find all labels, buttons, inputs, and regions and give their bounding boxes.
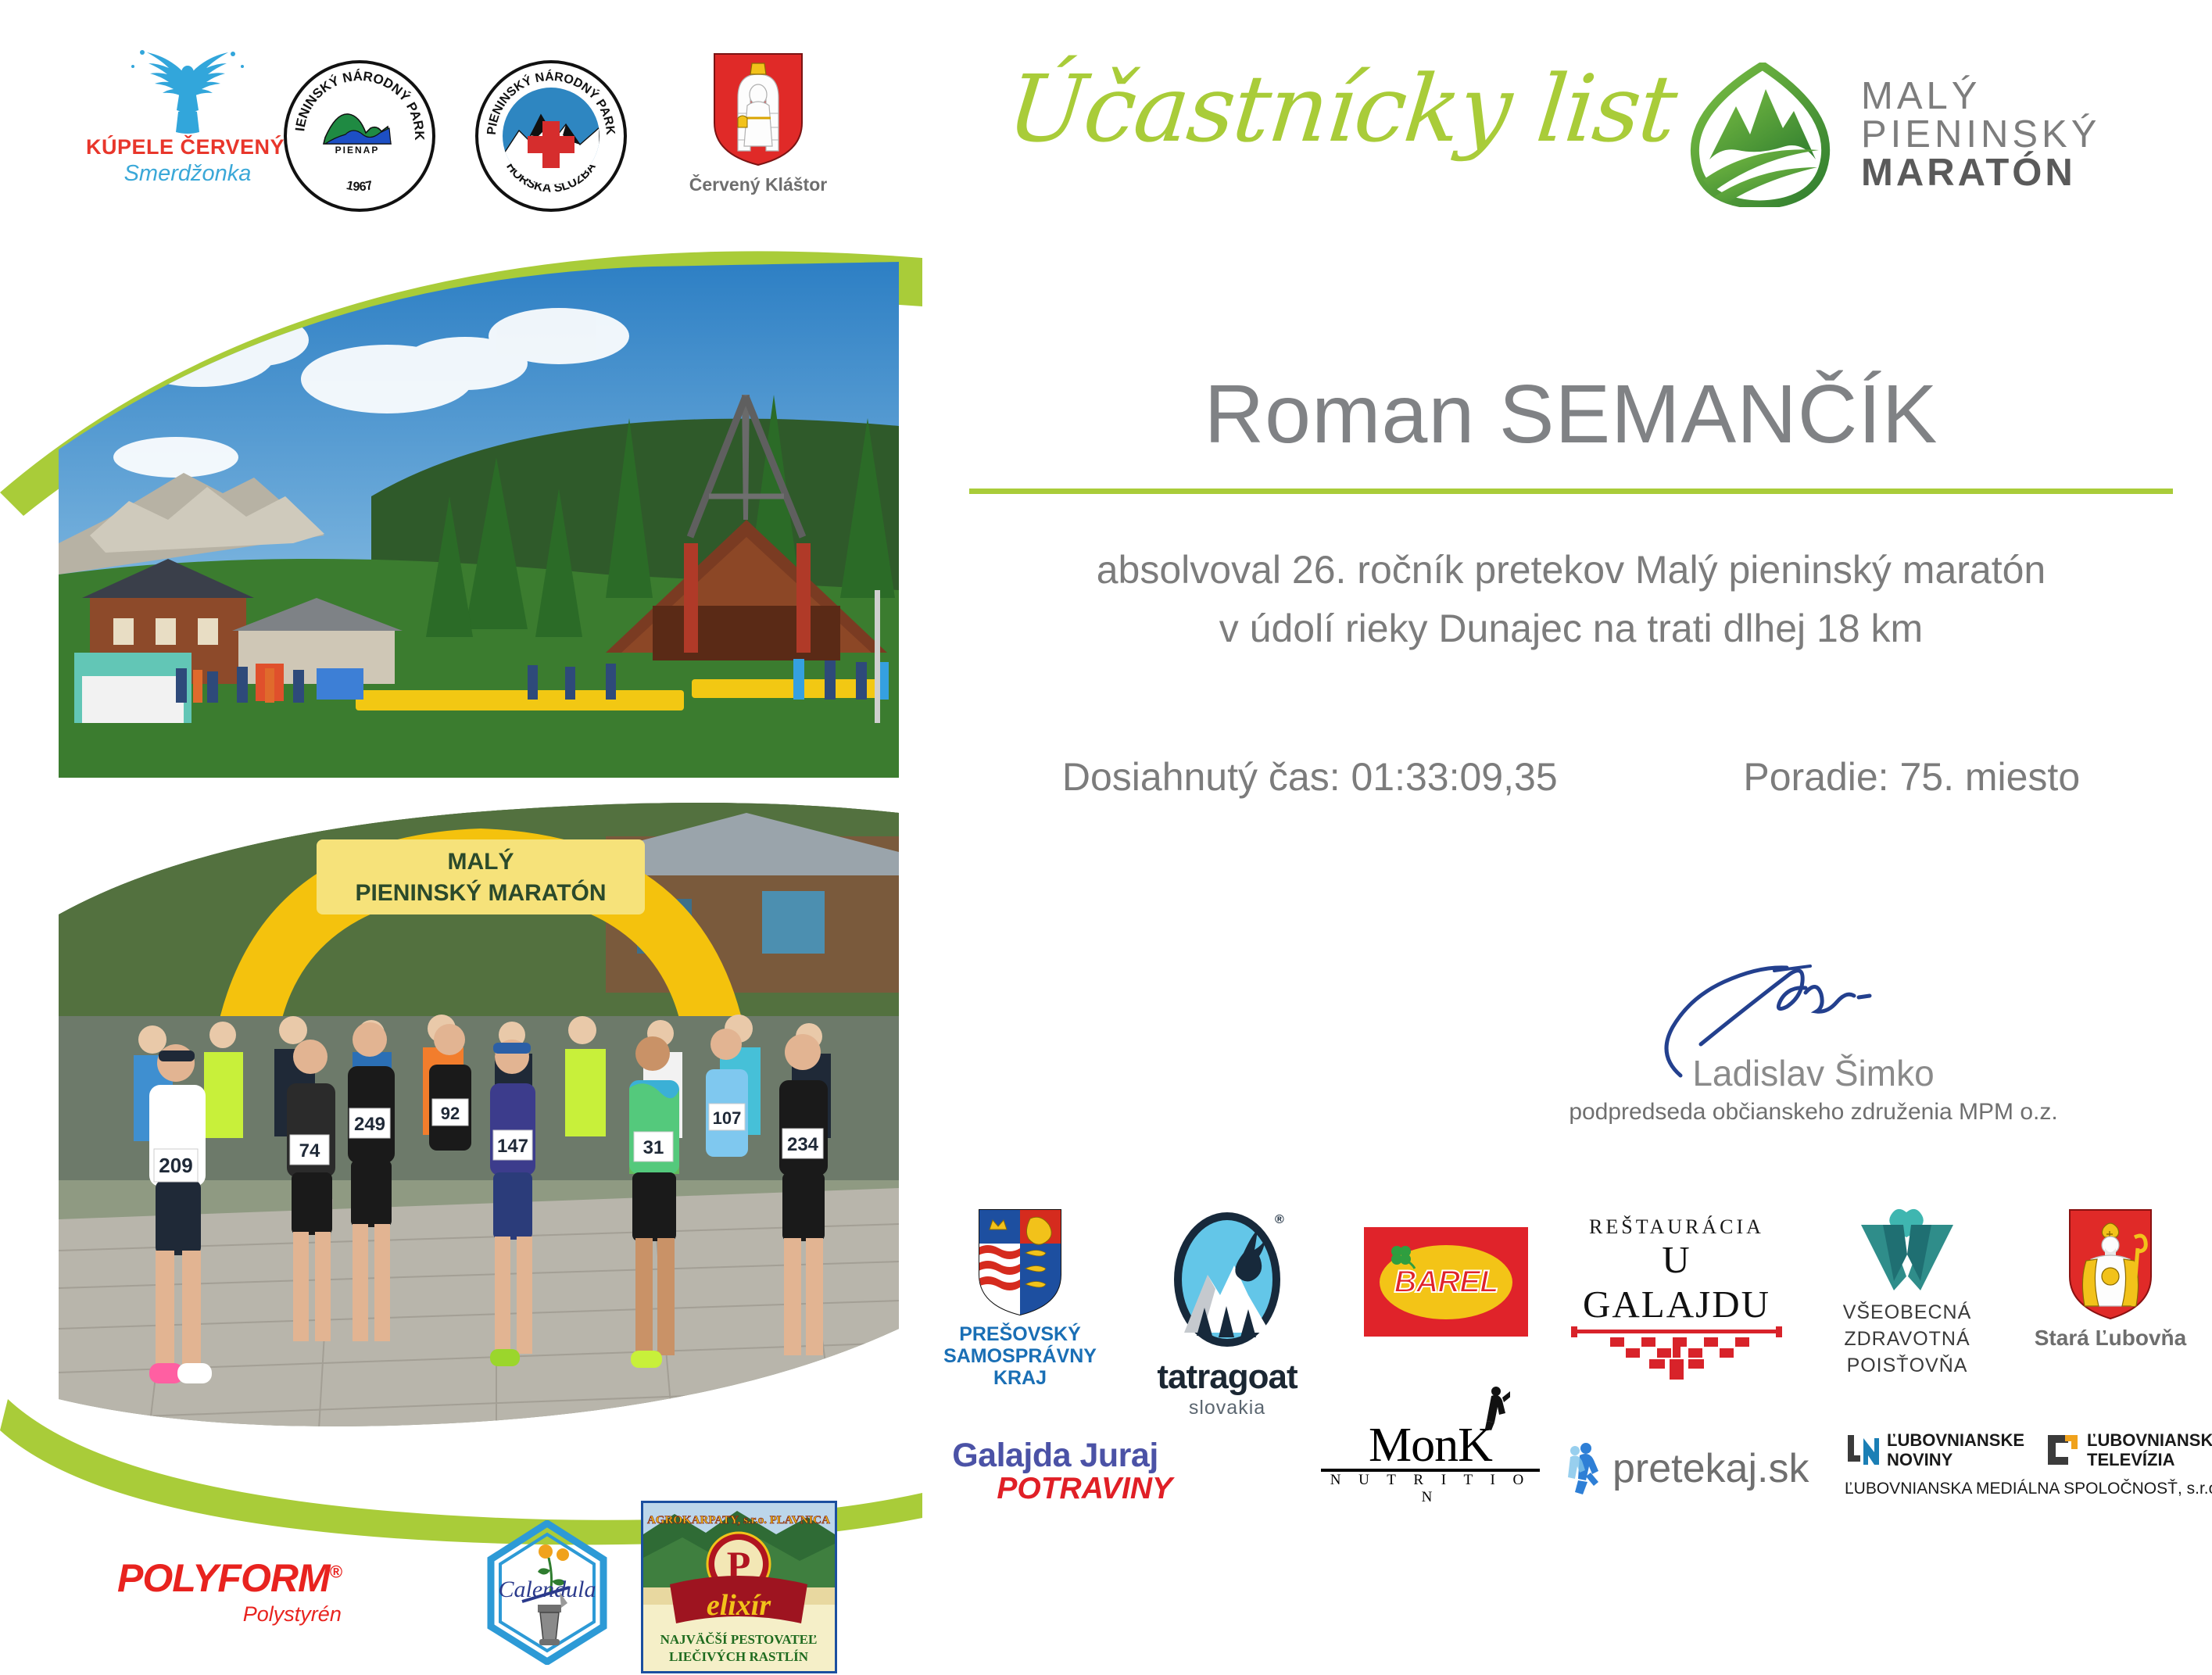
svg-text:1967: 1967 bbox=[345, 179, 374, 194]
logo-horska-sluzba: PIENINSKÝ NÁRODNÝ PARK HORSKÁ SLUŽBA bbox=[473, 60, 629, 212]
brand-lubovnianske-noviny: ĽUBOVNIANSKE NOVINY bbox=[1845, 1430, 2024, 1470]
logo-presovsky-samospravny-kraj: PREŠOVSKÝ SAMOSPRÁVNY KRAJ bbox=[938, 1208, 1102, 1389]
agrokarpaty-top-text: AGROKARPATY, s.r.o. PLAVNICA bbox=[647, 1514, 830, 1526]
stara-lubovna-caption: Stará Ľubovňa bbox=[2032, 1326, 2189, 1351]
brand-lubovnianska-televizia: ĽUBOVNIANSKA TELEVÍZIA bbox=[2045, 1430, 2212, 1470]
monk-subtitle: N U T R I T I O N bbox=[1321, 1472, 1540, 1506]
page-title: Účastnícky list bbox=[1003, 55, 1680, 163]
result-row: Dosiahnutý čas: 01:33:09,35 Poradie: 75.… bbox=[969, 754, 2173, 800]
vzp-line2: ZDRAVOTNÁ bbox=[1821, 1326, 1993, 1353]
logo-monk-nutrition: MonK N U T R I T I O N bbox=[1321, 1418, 1540, 1506]
logo-kupele-cerveny-klastor: KÚPELE ČERVENÝ KLÁŠTOR Smerdžonka bbox=[86, 43, 289, 187]
sponsor-row-secondary: Galajda Juraj POTRAVINY MonK N U T R I T… bbox=[938, 1430, 2204, 1548]
lms-footer: ĽUBOVNIANSKA MEDIÁLNA SPOLOČNOSŤ, s.r.o. bbox=[1845, 1480, 2212, 1498]
svg-text:107: 107 bbox=[713, 1108, 742, 1128]
calendula-wordmark: Calendula bbox=[499, 1577, 596, 1602]
galajda-line1: Galajda Juraj bbox=[938, 1437, 1172, 1475]
mpm-leaf-mountain-icon bbox=[1684, 63, 1841, 207]
ln-monogram-icon bbox=[1845, 1432, 1881, 1468]
partner-logo-strip: KÚPELE ČERVENÝ KLÁŠTOR Smerdžonka PIENIN… bbox=[86, 43, 946, 231]
svg-text:92: 92 bbox=[441, 1104, 460, 1123]
psk-coat-of-arms-icon bbox=[977, 1208, 1063, 1317]
polyform-subtitle: Polystyrén bbox=[117, 1602, 342, 1627]
tatragoat-emblem-icon: ® bbox=[1169, 1208, 1286, 1356]
arch-text-line2: PIENINSKÝ MARATÓN bbox=[355, 879, 606, 906]
vzp-line3: POISŤOVŇA bbox=[1821, 1353, 1993, 1380]
lt-line2: TELEVÍZIA bbox=[2087, 1450, 2212, 1469]
svg-text:31: 31 bbox=[643, 1137, 664, 1158]
svg-text:209: 209 bbox=[159, 1154, 192, 1177]
svg-text:PIENAP: PIENAP bbox=[335, 145, 380, 156]
placement: Poradie: 75. miesto bbox=[1743, 754, 2080, 800]
signature-block: Ladislav Šimko podpredseda občianskeho z… bbox=[1563, 961, 2063, 1126]
logo-obec-cerveny-klastor: Červený Kláštor bbox=[680, 51, 836, 195]
svg-text:®: ® bbox=[1275, 1213, 1284, 1226]
agrokarpaty-line1: NAJVÄČŠÍ PESTOVATEĽ bbox=[660, 1632, 818, 1647]
certificate-body-line-1: absolvoval 26. ročník pretekov Malý pien… bbox=[969, 547, 2173, 592]
signatory-role: podpredseda občianskeho združenia MPM o.… bbox=[1563, 1099, 2063, 1126]
ugalajdu-line1: REŠTAURÁCIA bbox=[1563, 1215, 1790, 1239]
runner-icon bbox=[1567, 1441, 1606, 1496]
polyform-registered-icon: ® bbox=[330, 1562, 342, 1581]
mpm-line1: MALÝ bbox=[1861, 77, 2100, 116]
barel-oval: BAREL bbox=[1380, 1245, 1512, 1319]
svg-text:249: 249 bbox=[354, 1114, 385, 1135]
water-angel-icon bbox=[86, 43, 289, 135]
mpm-line2: PIENINSKÝ bbox=[1861, 116, 2100, 154]
monk-wordmark: MonK bbox=[1369, 1419, 1492, 1472]
signatory-name: Ladislav Šimko bbox=[1563, 1052, 2063, 1094]
certificate-page: KÚPELE ČERVENÝ KLÁŠTOR Smerdžonka PIENIN… bbox=[0, 0, 2212, 1563]
logo-lubovnianska-medialna-spolocnost: ĽUBOVNIANSKE NOVINY ĽUBOVNIANSKA TELEVÍZ… bbox=[1845, 1430, 2212, 1498]
logo-calendula: Calendula bbox=[485, 1520, 610, 1665]
tatragoat-subtitle: slovakia bbox=[1141, 1397, 1313, 1419]
svg-text:147: 147 bbox=[497, 1136, 528, 1157]
svg-text:234: 234 bbox=[787, 1134, 819, 1155]
clover-icon bbox=[1387, 1242, 1416, 1270]
elixir-wordmark: elixír bbox=[707, 1589, 772, 1622]
svg-text:74: 74 bbox=[299, 1140, 320, 1161]
cerveny-klastor-caption: Červený Kláštor bbox=[680, 174, 836, 195]
logo-vseobecna-zdravotna-poistovna: VŠEOBECNÁ ZDRAVOTNÁ POISŤOVŇA bbox=[1821, 1208, 1993, 1379]
running-monk-icon bbox=[1476, 1385, 1510, 1430]
galajda-line2: POTRAVINY bbox=[938, 1472, 1172, 1506]
vzp-v-mark-icon bbox=[1856, 1208, 1958, 1294]
logo-tatragoat: ® tatragoat slovakia bbox=[1141, 1208, 1313, 1419]
logo-stara-lubovna: Stará Ľubovňa bbox=[2032, 1208, 2189, 1351]
arch-text-line1: MALÝ bbox=[448, 848, 514, 875]
lt-monogram-icon bbox=[2045, 1432, 2081, 1468]
psk-line1: PREŠOVSKÝ bbox=[938, 1323, 1102, 1345]
logo-polyform: POLYFORM® Polystyrén bbox=[117, 1555, 342, 1627]
logo-restauracia-u-galajdu: REŠTAURÁCIA U GALAJDU bbox=[1563, 1215, 1790, 1381]
tatragoat-wordmark: tatragoat bbox=[1141, 1358, 1313, 1397]
participant-name: Roman SEMANČÍK bbox=[969, 367, 2173, 462]
accent-divider bbox=[969, 489, 2173, 494]
polyform-name: POLYFORM bbox=[117, 1556, 330, 1600]
mpm-line3: MARATÓN bbox=[1861, 154, 2100, 192]
stara-lubovna-coat-of-arms-icon bbox=[2067, 1208, 2153, 1321]
logo-pretekaj-sk: pretekaj.sk bbox=[1567, 1441, 1825, 1496]
sponsor-row-primary: PREŠOVSKÝ SAMOSPRÁVNY KRAJ ® bbox=[938, 1208, 2189, 1403]
horska-sluzba-seal-icon: PIENINSKÝ NÁRODNÝ PARK HORSKÁ SLUŽBA bbox=[475, 60, 627, 212]
psk-line3: KRAJ bbox=[938, 1367, 1102, 1389]
pretekaj-wordmark: pretekaj.sk bbox=[1612, 1445, 1809, 1492]
logo-maly-pieninsky-maraton: MALÝ PIENINSKÝ MARATÓN bbox=[1684, 63, 2100, 207]
kupele-line2: Smerdžonka bbox=[86, 161, 289, 187]
cerveny-klastor-coat-of-arms-icon bbox=[711, 51, 805, 168]
achieved-time: Dosiahnutý čas: 01:33:09,35 bbox=[1062, 754, 1558, 800]
ln-line2: NOVINY bbox=[1887, 1450, 2024, 1469]
logo-pienap: PIENINSKÝ NÁRODNÝ PARK 1967 PIENAP bbox=[281, 60, 438, 212]
logo-agrokarpaty-elixir: AGROKARPATY, s.r.o. PLAVNICA P elixír NA… bbox=[641, 1501, 837, 1673]
certificate-body-line-2: v údolí rieky Dunajec na trati dlhej 18 … bbox=[969, 606, 2173, 651]
folk-ornament-icon bbox=[1563, 1326, 1790, 1381]
pienap-seal-icon: PIENINSKÝ NÁRODNÝ PARK 1967 PIENAP bbox=[284, 60, 435, 212]
lt-line1: ĽUBOVNIANSKA bbox=[2087, 1430, 2212, 1450]
kupele-line1: KÚPELE ČERVENÝ KLÁŠTOR bbox=[86, 135, 289, 159]
ugalajdu-line2: U GALAJDU bbox=[1563, 1237, 1790, 1326]
psk-line2: SAMOSPRÁVNY bbox=[938, 1345, 1102, 1367]
ln-line1: ĽUBOVNIANSKE bbox=[1887, 1430, 2024, 1450]
agrokarpaty-line2: LIEČIVÝCH RASTLÍN bbox=[669, 1649, 809, 1664]
polyform-wordmark: POLYFORM® bbox=[117, 1555, 342, 1601]
photo-event-venue bbox=[59, 262, 899, 778]
logo-barel: BAREL bbox=[1364, 1227, 1528, 1337]
logo-galajda-juraj-potraviny: Galajda Juraj POTRAVINY bbox=[938, 1437, 1172, 1506]
vzp-line1: VŠEOBECNÁ bbox=[1821, 1300, 1993, 1326]
photo-column: MALÝ PIENINSKÝ MARATÓN bbox=[0, 234, 922, 1563]
